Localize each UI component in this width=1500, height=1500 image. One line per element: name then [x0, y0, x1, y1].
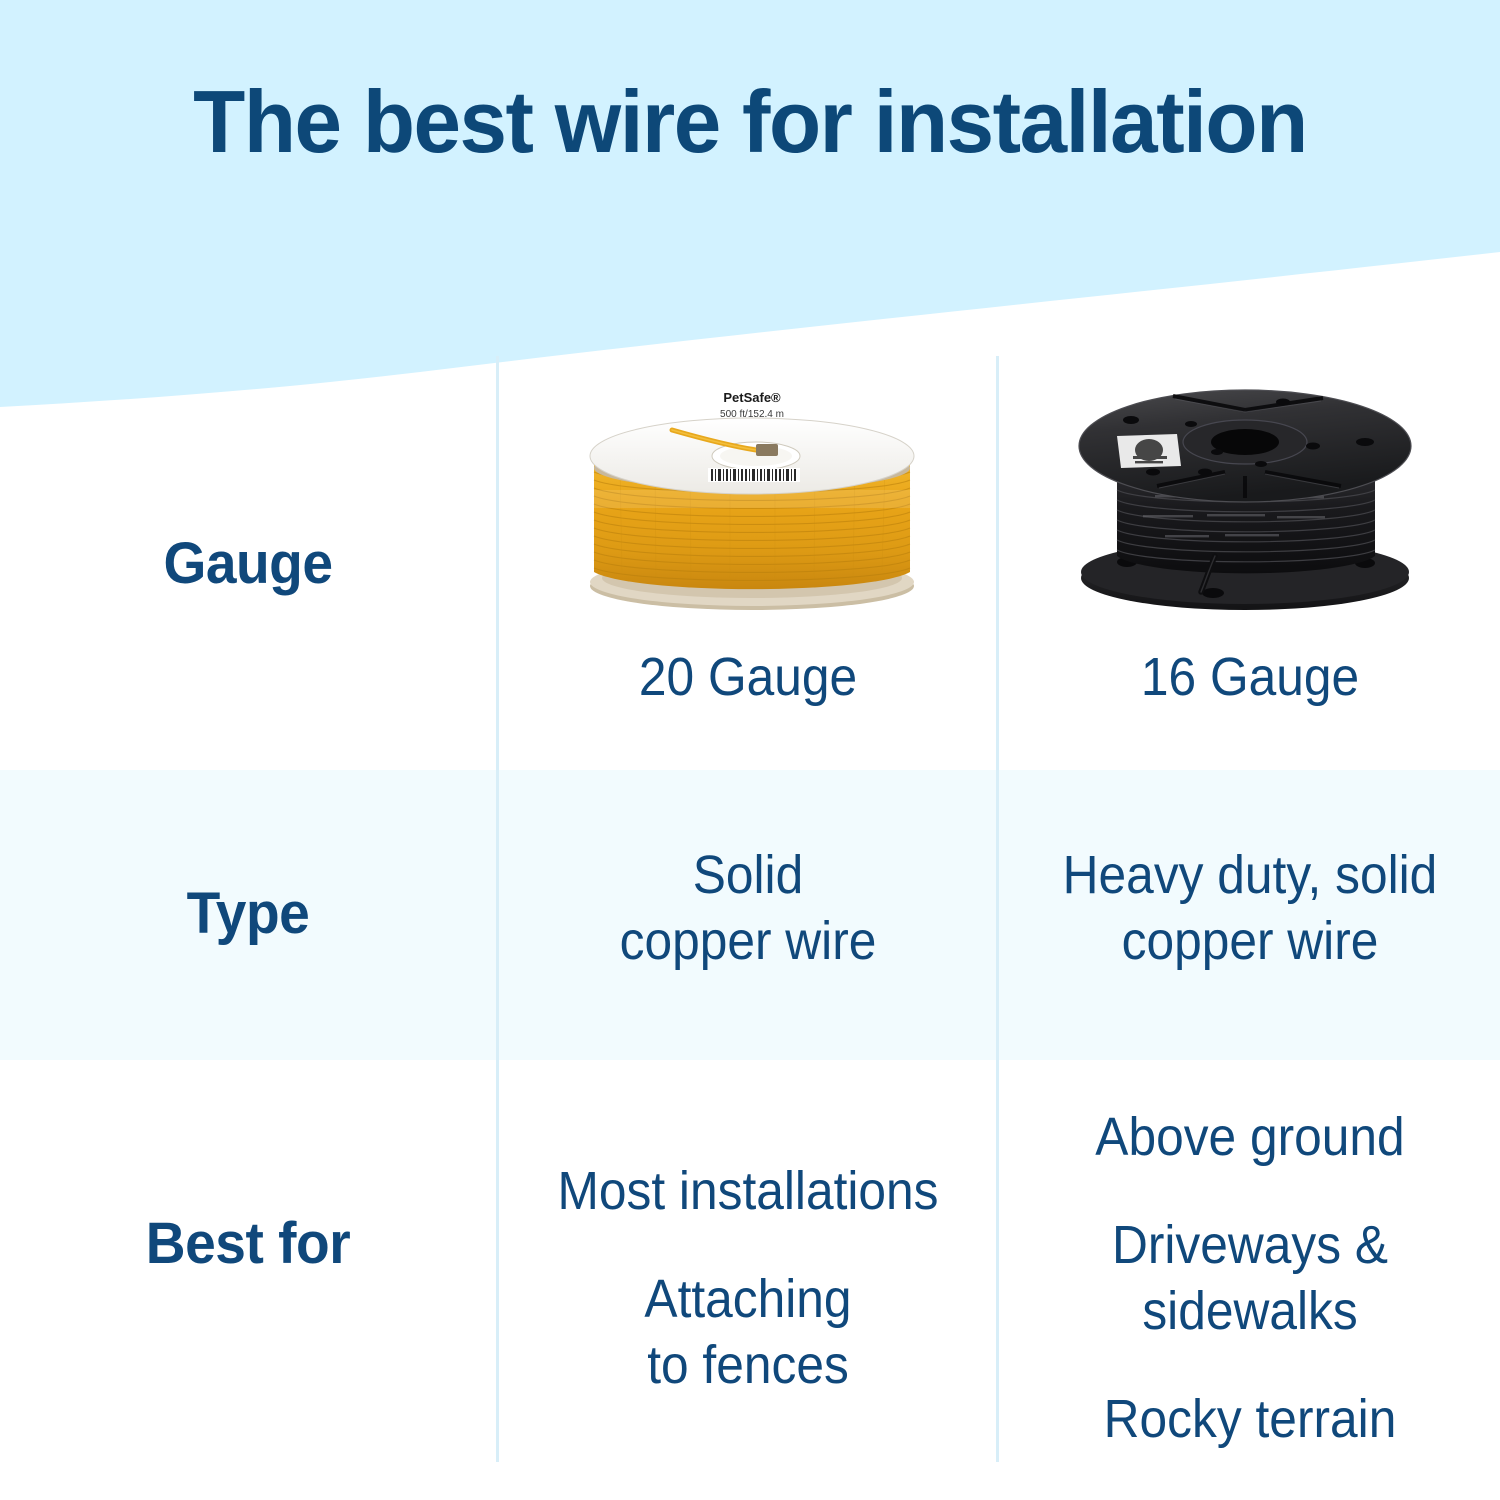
- row-label-type: Type: [12, 882, 483, 946]
- spool-length-label: 500 ft/152.4 m: [720, 409, 784, 420]
- column-divider-left: [496, 356, 499, 1462]
- cell-spacer: [1020, 1344, 1480, 1386]
- row-label-best-for: Best for: [12, 1212, 483, 1276]
- cell-gauge-16: 16 Gauge: [1020, 644, 1480, 710]
- cell-best-for-20-item2: Attaching: [520, 1266, 976, 1332]
- column-divider-right: [996, 356, 999, 1462]
- cell-spacer: [1020, 1170, 1480, 1212]
- spool-barcode: [708, 468, 800, 482]
- cell-best-for-16: Above ground Driveways & sidewalks Rocky…: [1020, 1104, 1480, 1452]
- cell-best-for-20-item3: to fences: [520, 1332, 976, 1398]
- cell-type-20-line2: copper wire: [520, 908, 976, 974]
- cell-type-16-line1: Heavy duty, solid: [1020, 842, 1480, 908]
- cell-best-for-20-item1: Most installations: [520, 1158, 976, 1224]
- cell-best-for-16-item2: Driveways &: [1020, 1212, 1480, 1278]
- cell-spacer: [520, 1224, 976, 1266]
- cell-best-for-16-item4: Rocky terrain: [1020, 1386, 1480, 1452]
- hub-clip: [756, 444, 778, 456]
- header-curve-shape: [0, 0, 1500, 407]
- header-band: [0, 0, 1500, 420]
- spool-label-sticker: [1117, 434, 1181, 468]
- cell-best-for-16-item1: Above ground: [1020, 1104, 1480, 1170]
- cell-type-20-line1: Solid: [520, 842, 976, 908]
- cell-type-16-line2: copper wire: [1020, 908, 1480, 974]
- flange-mount-hole: [1202, 588, 1224, 598]
- spool-brand-label: PetSafe®: [723, 390, 781, 405]
- product-image-16-gauge-spool: [1065, 380, 1435, 620]
- infographic-page: The best wire for installation: [0, 0, 1500, 1500]
- row-label-gauge: Gauge: [12, 532, 483, 596]
- product-image-20-gauge-spool: PetSafe® 500 ft/152.4 m: [560, 372, 940, 622]
- page-title: The best wire for installation: [23, 72, 1478, 172]
- cell-type-16: Heavy duty, solid copper wire: [1020, 842, 1480, 974]
- cell-type-20: Solid copper wire: [520, 842, 976, 974]
- cell-best-for-16-item3: sidewalks: [1020, 1278, 1480, 1344]
- cell-gauge-20: 20 Gauge: [520, 644, 976, 710]
- cell-best-for-20: Most installations Attaching to fences: [520, 1158, 976, 1398]
